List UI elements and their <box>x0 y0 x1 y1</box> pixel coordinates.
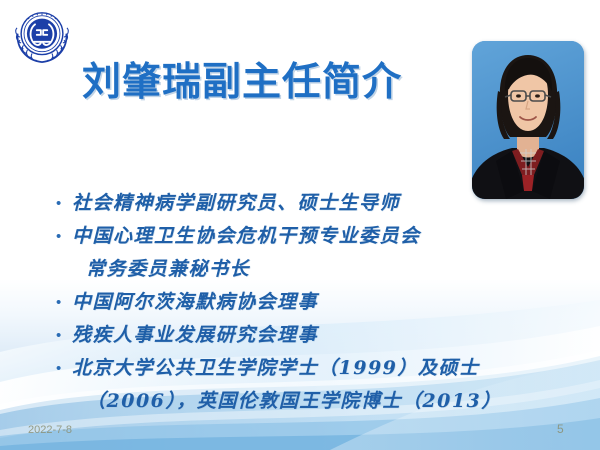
bullet-list: • 社会精神病学副研究员、硕士生导师 • 中国心理卫生协会危机干预专业委员会 常… <box>56 188 556 419</box>
bullet-marker-icon: • <box>56 353 72 384</box>
portrait-photo-image <box>472 41 584 199</box>
institution-emblem-icon <box>13 7 71 65</box>
bullet-marker-icon: • <box>56 320 72 351</box>
portrait-photo <box>472 41 584 199</box>
bullet-marker-icon: • <box>56 188 72 219</box>
list-item-continuation: （2006），英国伦敦国王学院博士（2013） <box>56 386 556 417</box>
list-item-label: 残疾人事业发展研究会理事 <box>72 320 318 351</box>
list-item-label: 常务委员兼秘书长 <box>72 254 250 285</box>
bullet-marker-icon: • <box>56 221 72 252</box>
list-item-label: 中国阿尔茨海默病协会理事 <box>72 287 318 318</box>
bullet-marker-icon: • <box>56 287 72 318</box>
list-item: • 中国阿尔茨海默病协会理事 <box>56 287 556 318</box>
footer-date: 2022-7-8 <box>28 424 72 436</box>
list-item-label: （2006），英国伦敦国王学院博士（2013） <box>72 386 502 417</box>
footer-page-number: 5 <box>557 422 564 436</box>
list-item-label: 社会精神病学副研究员、硕士生导师 <box>72 188 400 219</box>
list-item: • 社会精神病学副研究员、硕士生导师 <box>56 188 556 219</box>
list-item: • 中国心理卫生协会危机干预专业委员会 <box>56 221 556 252</box>
list-item: • 残疾人事业发展研究会理事 <box>56 320 556 351</box>
list-item-label: 中国心理卫生协会危机干预专业委员会 <box>72 221 421 252</box>
list-item-continuation: 常务委员兼秘书长 <box>56 254 556 285</box>
presentation-slide: 刘肇瑞副主任简介 <box>0 0 600 450</box>
list-item-label: 北京大学公共卫生学院学士（1999）及硕士 <box>72 353 479 384</box>
list-item: • 北京大学公共卫生学院学士（1999）及硕士 <box>56 353 556 384</box>
page-title: 刘肇瑞副主任简介 <box>82 63 402 104</box>
